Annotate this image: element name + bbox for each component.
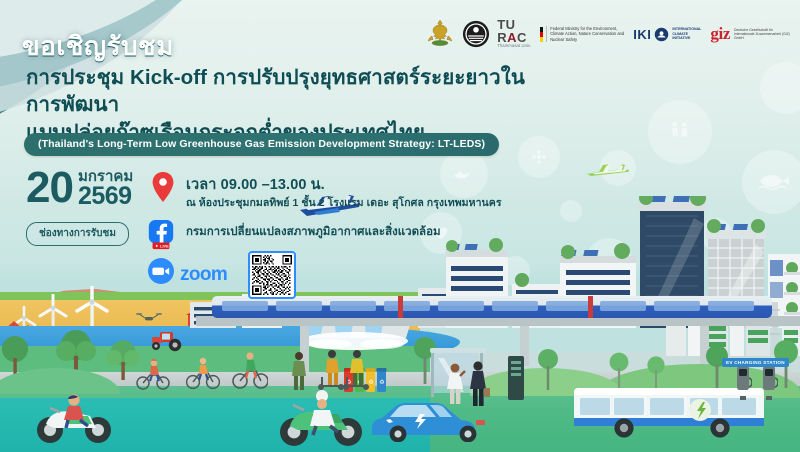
skytrain-window bbox=[384, 301, 430, 311]
german-flag-bar bbox=[540, 27, 543, 42]
tractor bbox=[148, 328, 188, 357]
event-venue: ณ ห้องประชุมกมลทิพย์ 1 ชั้น 2 โรงแรม เดอ… bbox=[186, 194, 502, 211]
bubble-bird-icon bbox=[440, 150, 488, 198]
skytrain-window bbox=[438, 301, 484, 311]
info-kiosk bbox=[506, 356, 526, 405]
cyclist-2 bbox=[186, 356, 220, 395]
giz-logo: giz Deutsche Gesellschaft für Internatio… bbox=[710, 14, 792, 54]
tree-2 bbox=[106, 340, 140, 385]
iki-sub3: INITIATIVE bbox=[672, 36, 701, 40]
partner-logo-strip: TU RAC Thammasat Univ. Federal Ministry … bbox=[427, 14, 792, 54]
title-line-1: การประชุม Kick-off การปรับปรุงยุทธศาสตร์… bbox=[26, 64, 546, 119]
zoom-camera-icon[interactable] bbox=[148, 258, 174, 289]
bubble-family-icon bbox=[648, 100, 712, 164]
poster-root: TU RAC Thammasat Univ. Federal Ministry … bbox=[0, 0, 800, 452]
skytrain-window bbox=[546, 301, 592, 311]
person-waiting-1 bbox=[444, 362, 466, 409]
facebook-page-name: กรมการเปลี่ยนแปลงสภาพภูมิอากาศและสิ่งแวด… bbox=[186, 223, 441, 241]
turac-caption: Thammasat Univ. bbox=[497, 44, 531, 49]
turac-logo: TU RAC Thammasat Univ. bbox=[462, 14, 531, 54]
watch-channel-label: ช่องทางการรับชม bbox=[26, 222, 129, 246]
skytrain bbox=[212, 296, 772, 318]
ev-charger-1 bbox=[734, 366, 752, 405]
giz-caption: Deutsche Gesellschaft für Internationale… bbox=[734, 28, 792, 41]
svg-text:LIVE: LIVE bbox=[160, 244, 169, 249]
svg-text:♻: ♻ bbox=[379, 379, 384, 386]
ev-charger-2 bbox=[760, 366, 778, 405]
skytrain-door-stripe bbox=[588, 296, 593, 318]
event-time: เวลา 09.00 –13.00 น. bbox=[186, 173, 325, 196]
subtitle-pill: (Thailand's Long-Term Low Greenhouse Gas… bbox=[24, 133, 499, 156]
ev-charging-station-sign: EV CHARGING STATION bbox=[722, 358, 789, 367]
electric-motorcycle-1 bbox=[32, 392, 118, 451]
cyclist-3 bbox=[232, 350, 268, 395]
skytrain-window bbox=[600, 301, 646, 311]
skytrain-door-stripe bbox=[398, 296, 403, 318]
person-waiting-2 bbox=[466, 360, 490, 411]
iki-logo: IKI INTERNATIONAL CLIMATE INITIATIVE bbox=[633, 14, 701, 54]
drone bbox=[136, 310, 162, 328]
tree-city-2 bbox=[536, 348, 560, 395]
event-date-block: 20 มกราคม 2569 bbox=[26, 168, 133, 210]
cyclist-1 bbox=[136, 358, 170, 395]
iki-globe-icon bbox=[654, 27, 669, 42]
thai-royal-garuda-emblem bbox=[427, 14, 453, 54]
iki-wordmark: IKI bbox=[633, 27, 651, 42]
kicker-heading: ขอเชิญรับชม bbox=[22, 26, 174, 67]
skytrain-window bbox=[492, 301, 538, 311]
qr-code[interactable] bbox=[248, 251, 296, 299]
skytrain-window bbox=[330, 301, 376, 311]
german-ministry-text: Federal Ministry for the Environment, Cl… bbox=[550, 26, 624, 42]
event-day: 20 bbox=[26, 168, 73, 208]
skytrain-window bbox=[654, 301, 700, 311]
german-federal-ministry-logo: Federal Ministry for the Environment, Cl… bbox=[540, 14, 624, 54]
tree-city-3 bbox=[704, 344, 730, 393]
airplane-small bbox=[585, 160, 631, 187]
electric-motorcycle-2 bbox=[272, 388, 372, 452]
giz-wordmark: giz bbox=[710, 24, 730, 44]
location-pin-icon bbox=[152, 172, 174, 207]
event-year: 2569 bbox=[78, 184, 133, 210]
zoom-wordmark: zoom bbox=[180, 264, 227, 286]
skytrain-window bbox=[708, 301, 754, 311]
skytrain-window bbox=[276, 301, 322, 311]
facebook-icon[interactable]: LIVE bbox=[148, 220, 174, 255]
skytrain-window bbox=[222, 301, 268, 311]
